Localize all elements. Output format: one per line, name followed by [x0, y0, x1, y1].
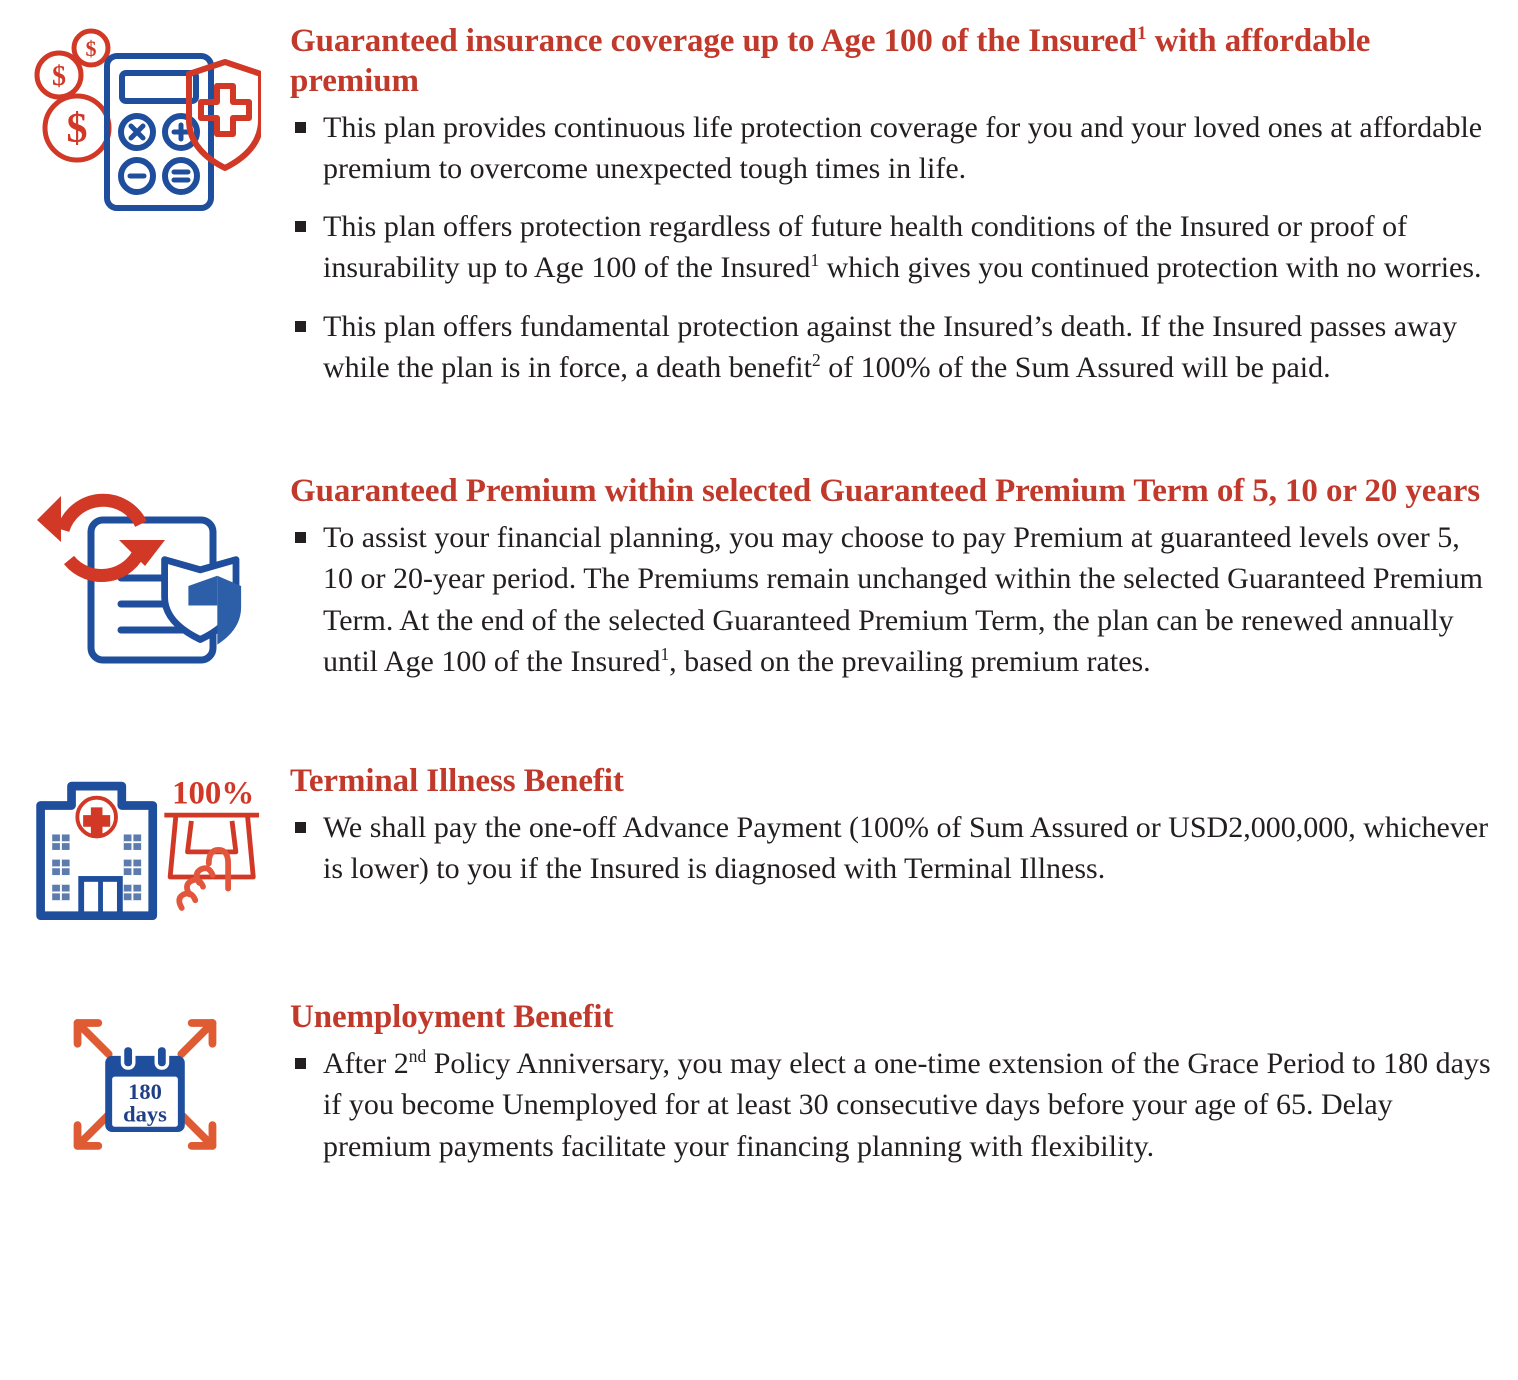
feature-icon-container [0, 472, 290, 668]
feature-body: Guaranteed insurance coverage up to Age … [290, 22, 1518, 388]
bullet-text: This plan provides continuous life prote… [323, 111, 1482, 185]
list-item: After 2nd Policy Anniversary, you may el… [290, 1043, 1496, 1166]
feature-icon-container: 180 days [0, 998, 290, 1164]
list-item: This plan offers fundamental protection … [290, 306, 1496, 388]
list-item: This plan provides continuous life prote… [290, 107, 1496, 189]
square-bullet-icon [295, 221, 306, 232]
feature-heading: Terminal Illness Benefit [290, 762, 1496, 802]
svg-text:$: $ [52, 61, 66, 92]
svg-text:$: $ [67, 106, 88, 152]
footnote-marker: 1 [660, 644, 669, 664]
icon-badge-100-percent: 100% [172, 775, 254, 811]
feature-heading: Guaranteed Premium within selected Guara… [290, 472, 1496, 512]
feature-body: Guaranteed Premium within selected Guara… [290, 472, 1518, 682]
feature-body: Unemployment Benefit After 2nd Policy An… [290, 998, 1518, 1167]
bullet-text-tail: , based on the prevailing premium rates. [669, 645, 1151, 678]
bullet-text-tail: of 100% of the Sum Assured will be paid. [821, 351, 1331, 384]
square-bullet-icon [295, 532, 306, 543]
svg-text:$: $ [86, 36, 97, 61]
feature-bullet-list: After 2nd Policy Anniversary, you may el… [290, 1043, 1496, 1166]
feature-heading: Unemployment Benefit [290, 998, 1496, 1038]
feature-bullet-list: To assist your financial planning, you m… [290, 517, 1496, 681]
feature-icon-container: 100% [0, 762, 290, 928]
feature-bullet-list: We shall pay the one-off Advance Payment… [290, 807, 1496, 889]
bullet-text-tail: which gives you continued protection wit… [819, 251, 1481, 284]
footnote-marker: 2 [812, 350, 821, 370]
list-item: To assist your financial planning, you m… [290, 517, 1496, 681]
list-item: We shall pay the one-off Advance Payment… [290, 807, 1496, 889]
feature-block-guaranteed-coverage: $ $ $ [0, 22, 1518, 388]
feature-body: Terminal Illness Benefit We shall pay th… [290, 762, 1518, 890]
feature-bullet-list: This plan provides continuous life prote… [290, 107, 1496, 388]
list-item: This plan offers protection regardless o… [290, 206, 1496, 288]
bullet-text: After 2 [323, 1047, 409, 1080]
heading-text-main: Guaranteed insurance coverage up to Age … [290, 23, 1137, 59]
bullet-text: We shall pay the one-off Advance Payment… [323, 811, 1488, 885]
renewal-document-shield-icon [29, 478, 261, 668]
feature-icon-container: $ $ $ [0, 22, 290, 218]
square-bullet-icon [295, 822, 306, 833]
footnote-marker: 1 [810, 250, 819, 270]
calculator-coins-shield-icon: $ $ $ [29, 28, 261, 218]
feature-block-guaranteed-premium-term: Guaranteed Premium within selected Guara… [0, 472, 1518, 682]
feature-block-unemployment-benefit: 180 days Unemployment Benefit After 2nd … [0, 998, 1518, 1167]
ordinal-marker: nd [409, 1046, 426, 1066]
bullet-text-tail: Policy Anniversary, you may elect a one-… [323, 1047, 1491, 1162]
hospital-100-percent-payout-icon: 100% [29, 768, 261, 928]
feature-heading: Guaranteed insurance coverage up to Age … [290, 22, 1496, 101]
document-page: $ $ $ [0, 22, 1518, 1380]
square-bullet-icon [295, 122, 306, 133]
icon-badge-days: days [123, 1101, 167, 1126]
square-bullet-icon [295, 321, 306, 332]
icon-badge-180: 180 [128, 1079, 162, 1104]
square-bullet-icon [295, 1058, 306, 1069]
calendar-180-days-expand-icon: 180 days [29, 1004, 261, 1164]
feature-block-terminal-illness-benefit: 100% Terminal Illness Benefit [0, 762, 1518, 928]
